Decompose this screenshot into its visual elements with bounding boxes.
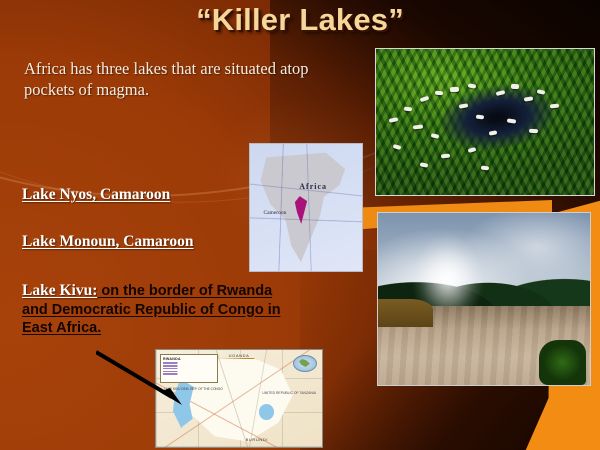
page-title: “Killer Lakes” — [0, 2, 600, 38]
map-africa-label: Africa — [299, 182, 327, 191]
list-item-lake-monoun: Lake Monoun, Camaroon — [22, 233, 194, 251]
map-borders — [250, 144, 362, 271]
cattle-carcass — [476, 114, 484, 119]
cattle-carcass — [480, 165, 488, 170]
map-africa-inset: Africa Cameroon — [249, 143, 363, 272]
photo-shoreline — [378, 299, 433, 327]
list-item-lake-kivu: Lake Kivu: on the border of Rwanda and D… — [22, 282, 284, 338]
list-item-lake-nyos: Lake Nyos, Camaroon — [22, 186, 170, 204]
map-lake-secondary — [259, 404, 274, 420]
intro-paragraph: Africa has three lakes that are situated… — [24, 58, 344, 100]
globe-inset-icon — [293, 355, 317, 372]
photo-foreground-bush — [539, 340, 586, 385]
map-label-tanzania: UNITED REPUBLIC OF TANZANIA — [262, 391, 316, 395]
cattle-carcass — [511, 84, 519, 90]
map-label-uganda: UGANDA — [229, 353, 250, 358]
lake-kivu-label: Lake Kivu: — [22, 282, 97, 299]
pointer-arrow-icon — [96, 348, 196, 412]
map-label-burundi: BURUNDI — [246, 437, 268, 442]
slide: “Killer Lakes” Africa has three lakes th… — [0, 0, 600, 450]
cattle-carcass — [450, 87, 459, 93]
cattle-carcass — [528, 129, 537, 133]
photo-lake-nyos-cattle — [375, 48, 595, 196]
map-cameroon-label: Cameroon — [263, 210, 286, 216]
photo-crater-lake — [377, 212, 591, 386]
